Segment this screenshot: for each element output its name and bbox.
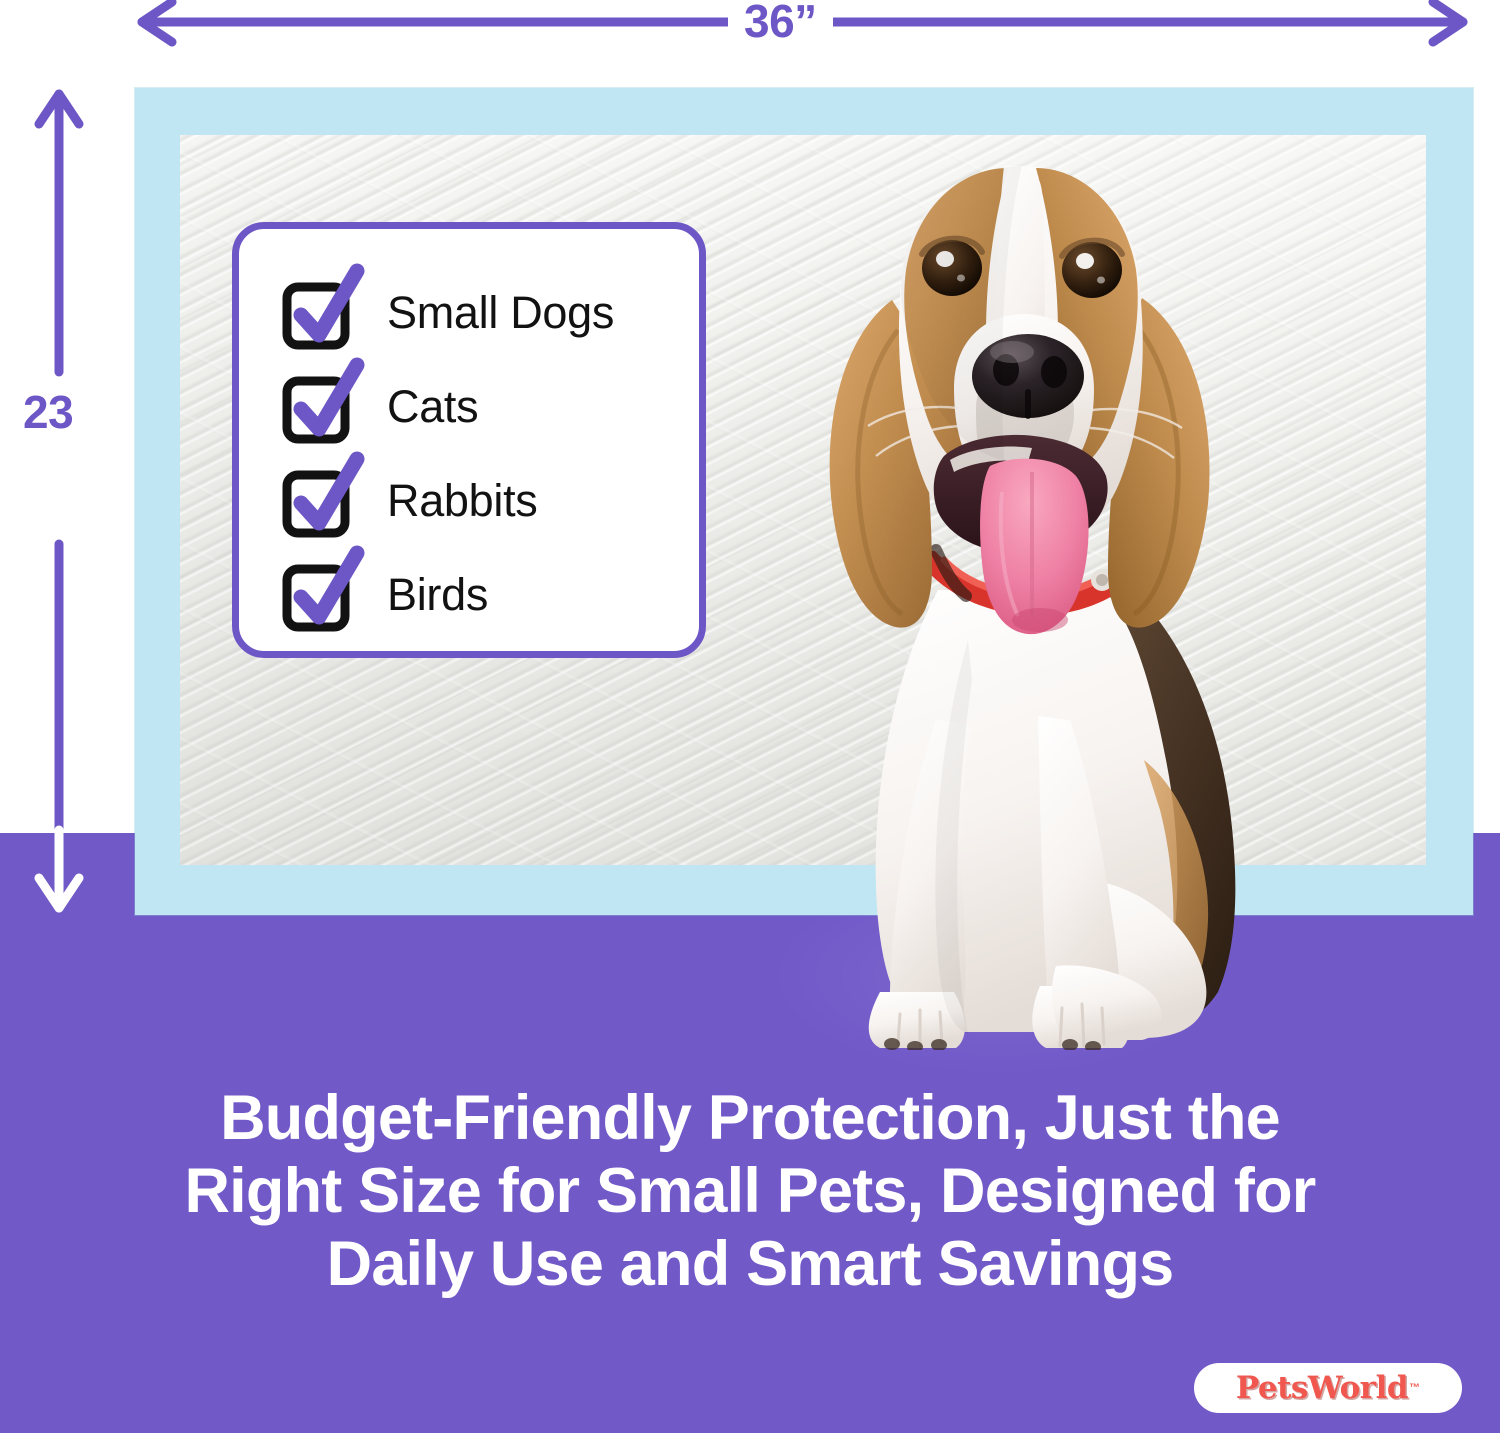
list-item: Small Dogs — [283, 265, 699, 359]
checked-checkbox-icon — [283, 375, 345, 437]
headline-line-2: Right Size for Small Pets, Designed for — [60, 1155, 1440, 1228]
checked-checkbox-icon — [283, 469, 345, 531]
list-item-label: Birds — [387, 572, 488, 617]
product-marketing-image: Small Dogs Cats Rabbits — [0, 0, 1500, 1433]
beagle-dog-photo — [740, 120, 1300, 1050]
height-dimension-arrow — [30, 82, 90, 920]
checked-checkbox-icon — [283, 563, 345, 625]
headline-line-3: Daily Use and Smart Savings — [60, 1228, 1440, 1301]
checked-checkbox-icon — [283, 281, 345, 343]
list-item: Cats — [283, 359, 699, 453]
list-item-label: Rabbits — [387, 478, 537, 523]
list-item-label: Small Dogs — [387, 290, 614, 335]
height-dimension-label: 23 — [17, 379, 79, 445]
brand-logo: PetsWorld™ — [1194, 1363, 1462, 1413]
headline-line-1: Budget-Friendly Protection, Just the — [60, 1082, 1440, 1155]
compatible-pets-checklist: Small Dogs Cats Rabbits — [232, 222, 706, 658]
list-item: Rabbits — [283, 453, 699, 547]
brand-name: PetsWorld — [1236, 1373, 1408, 1404]
trademark-symbol: ™ — [1409, 1382, 1420, 1394]
headline-text: Budget-Friendly Protection, Just the Rig… — [60, 1082, 1440, 1300]
width-dimension-label: 36” — [728, 0, 833, 44]
list-item: Birds — [283, 547, 699, 641]
list-item-label: Cats — [387, 384, 478, 429]
